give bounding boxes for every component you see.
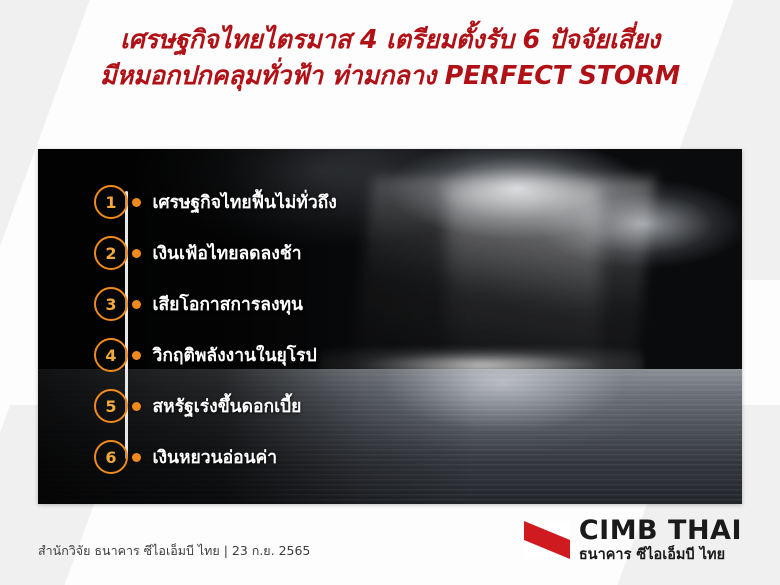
list-item-number: 3	[94, 287, 128, 321]
list-item-label: เงินเฟ้อไทยลดลงช้า	[153, 239, 302, 267]
storm-image-panel: 1 เศรษฐกิจไทยฟื้นไม่ทั่วถึง 2 เงินเฟ้อไท…	[38, 149, 742, 504]
risk-factor-list: 1 เศรษฐกิจไทยฟื้นไม่ทั่วถึง 2 เงินเฟ้อไท…	[94, 177, 554, 483]
headline-line-2: มีหมอกปกคลุมทั่วฟ้า ท่ามกลาง PERFECT STO…	[0, 58, 780, 94]
list-item-label: เงินหยวนอ่อนค่า	[153, 443, 278, 471]
timeline-dot-icon	[132, 198, 141, 207]
timeline-dot-icon	[132, 453, 141, 462]
logo-name-th: ธนาคาร ซีไอเอ็มบี ไทย	[579, 548, 742, 563]
logo-mark-cut-top	[524, 521, 570, 540]
logo-name-en: CIMB THAI	[579, 517, 742, 545]
list-item: 1 เศรษฐกิจไทยฟื้นไม่ทั่วถึง	[94, 177, 554, 227]
timeline-dot-icon	[132, 402, 141, 411]
list-item-number: 4	[94, 338, 128, 372]
source-note: สำนักวิจัย ธนาคาร ซีไอเอ็มบี ไทย | 23 ก.…	[38, 541, 310, 561]
list-item-number: 1	[94, 185, 128, 219]
list-item: 5 สหรัฐเร่งขึ้นดอกเบี้ย	[94, 381, 554, 431]
list-item: 2 เงินเฟ้อไทยลดลงช้า	[94, 228, 554, 278]
logo-text: CIMB THAI ธนาคาร ซีไอเอ็มบี ไทย	[579, 517, 742, 563]
list-item-label: เสียโอกาสการลงทุน	[153, 290, 304, 318]
cimb-diamond-icon	[524, 521, 570, 559]
timeline-dot-icon	[132, 351, 141, 360]
list-item-number: 2	[94, 236, 128, 270]
list-item: 3 เสียโอกาสการลงทุน	[94, 279, 554, 329]
timeline-dot-icon	[132, 300, 141, 309]
list-item: 4 วิกฤติพลังงานในยุโรป	[94, 330, 554, 380]
headline-line-1: เศรษฐกิจไทยไตรมาส 4 เตรียมตั้งรับ 6 ปัจจ…	[0, 22, 780, 58]
list-item-label: เศรษฐกิจไทยฟื้นไม่ทั่วถึง	[153, 188, 337, 216]
list-item-number: 5	[94, 389, 128, 423]
list-item-number: 6	[94, 440, 128, 474]
timeline-dot-icon	[132, 249, 141, 258]
headline: เศรษฐกิจไทยไตรมาส 4 เตรียมตั้งรับ 6 ปัจจ…	[0, 22, 780, 94]
list-item-label: วิกฤติพลังงานในยุโรป	[153, 341, 317, 369]
list-item-label: สหรัฐเร่งขึ้นดอกเบี้ย	[153, 392, 302, 420]
list-item: 6 เงินหยวนอ่อนค่า	[94, 432, 554, 482]
logo-mark-cut-bottom	[524, 540, 570, 559]
cimb-thai-logo: CIMB THAI ธนาคาร ซีไอเอ็มบี ไทย	[524, 517, 742, 563]
